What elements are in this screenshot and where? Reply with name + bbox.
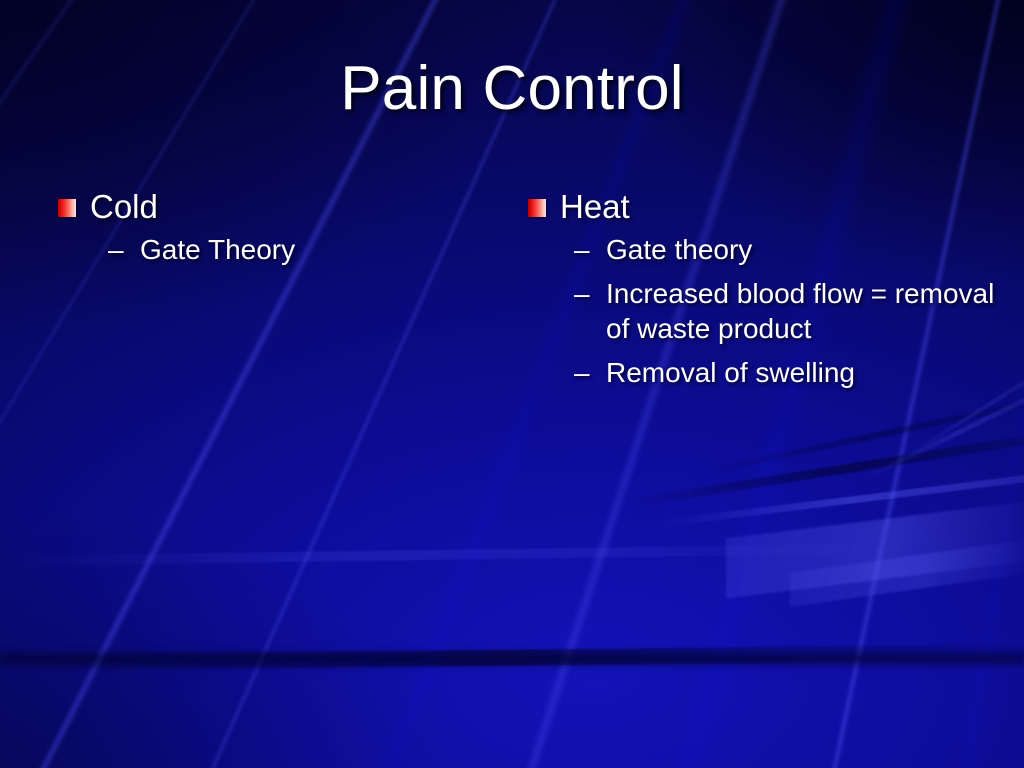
- square-gradient-bullet-icon: [528, 199, 546, 217]
- dash-icon: –: [108, 232, 128, 268]
- list-item-label: Gate Theory: [140, 232, 488, 268]
- heading-cold-label: Cold: [90, 188, 488, 226]
- dash-icon: –: [574, 355, 594, 391]
- presentation-slide: Pain Control Cold – Gate Theory Heat: [0, 0, 1024, 768]
- list-item-label: Removal of swelling: [606, 355, 998, 391]
- heading-heat: Heat: [528, 188, 998, 226]
- dash-icon: –: [574, 276, 594, 312]
- list-item: – Increased blood flow = removal of wast…: [528, 276, 998, 347]
- list-item: – Removal of swelling: [528, 355, 998, 391]
- list-item-label: Gate theory: [606, 232, 998, 268]
- dash-icon: –: [574, 232, 594, 268]
- list-item-label: Increased blood flow = removal of waste …: [606, 276, 998, 347]
- slide-title: Pain Control: [0, 56, 1024, 121]
- list-item: – Gate theory: [528, 232, 998, 268]
- heading-heat-label: Heat: [560, 188, 998, 226]
- column-cold: Cold – Gate Theory: [58, 188, 488, 276]
- heading-cold: Cold: [58, 188, 488, 226]
- column-heat: Heat – Gate theory – Increased blood flo…: [528, 188, 998, 398]
- square-gradient-bullet-icon: [58, 199, 76, 217]
- sublist-cold: – Gate Theory: [58, 232, 488, 268]
- sublist-heat: – Gate theory – Increased blood flow = r…: [528, 232, 998, 390]
- list-item: – Gate Theory: [58, 232, 488, 268]
- slide-content: Pain Control Cold – Gate Theory Heat: [0, 0, 1024, 768]
